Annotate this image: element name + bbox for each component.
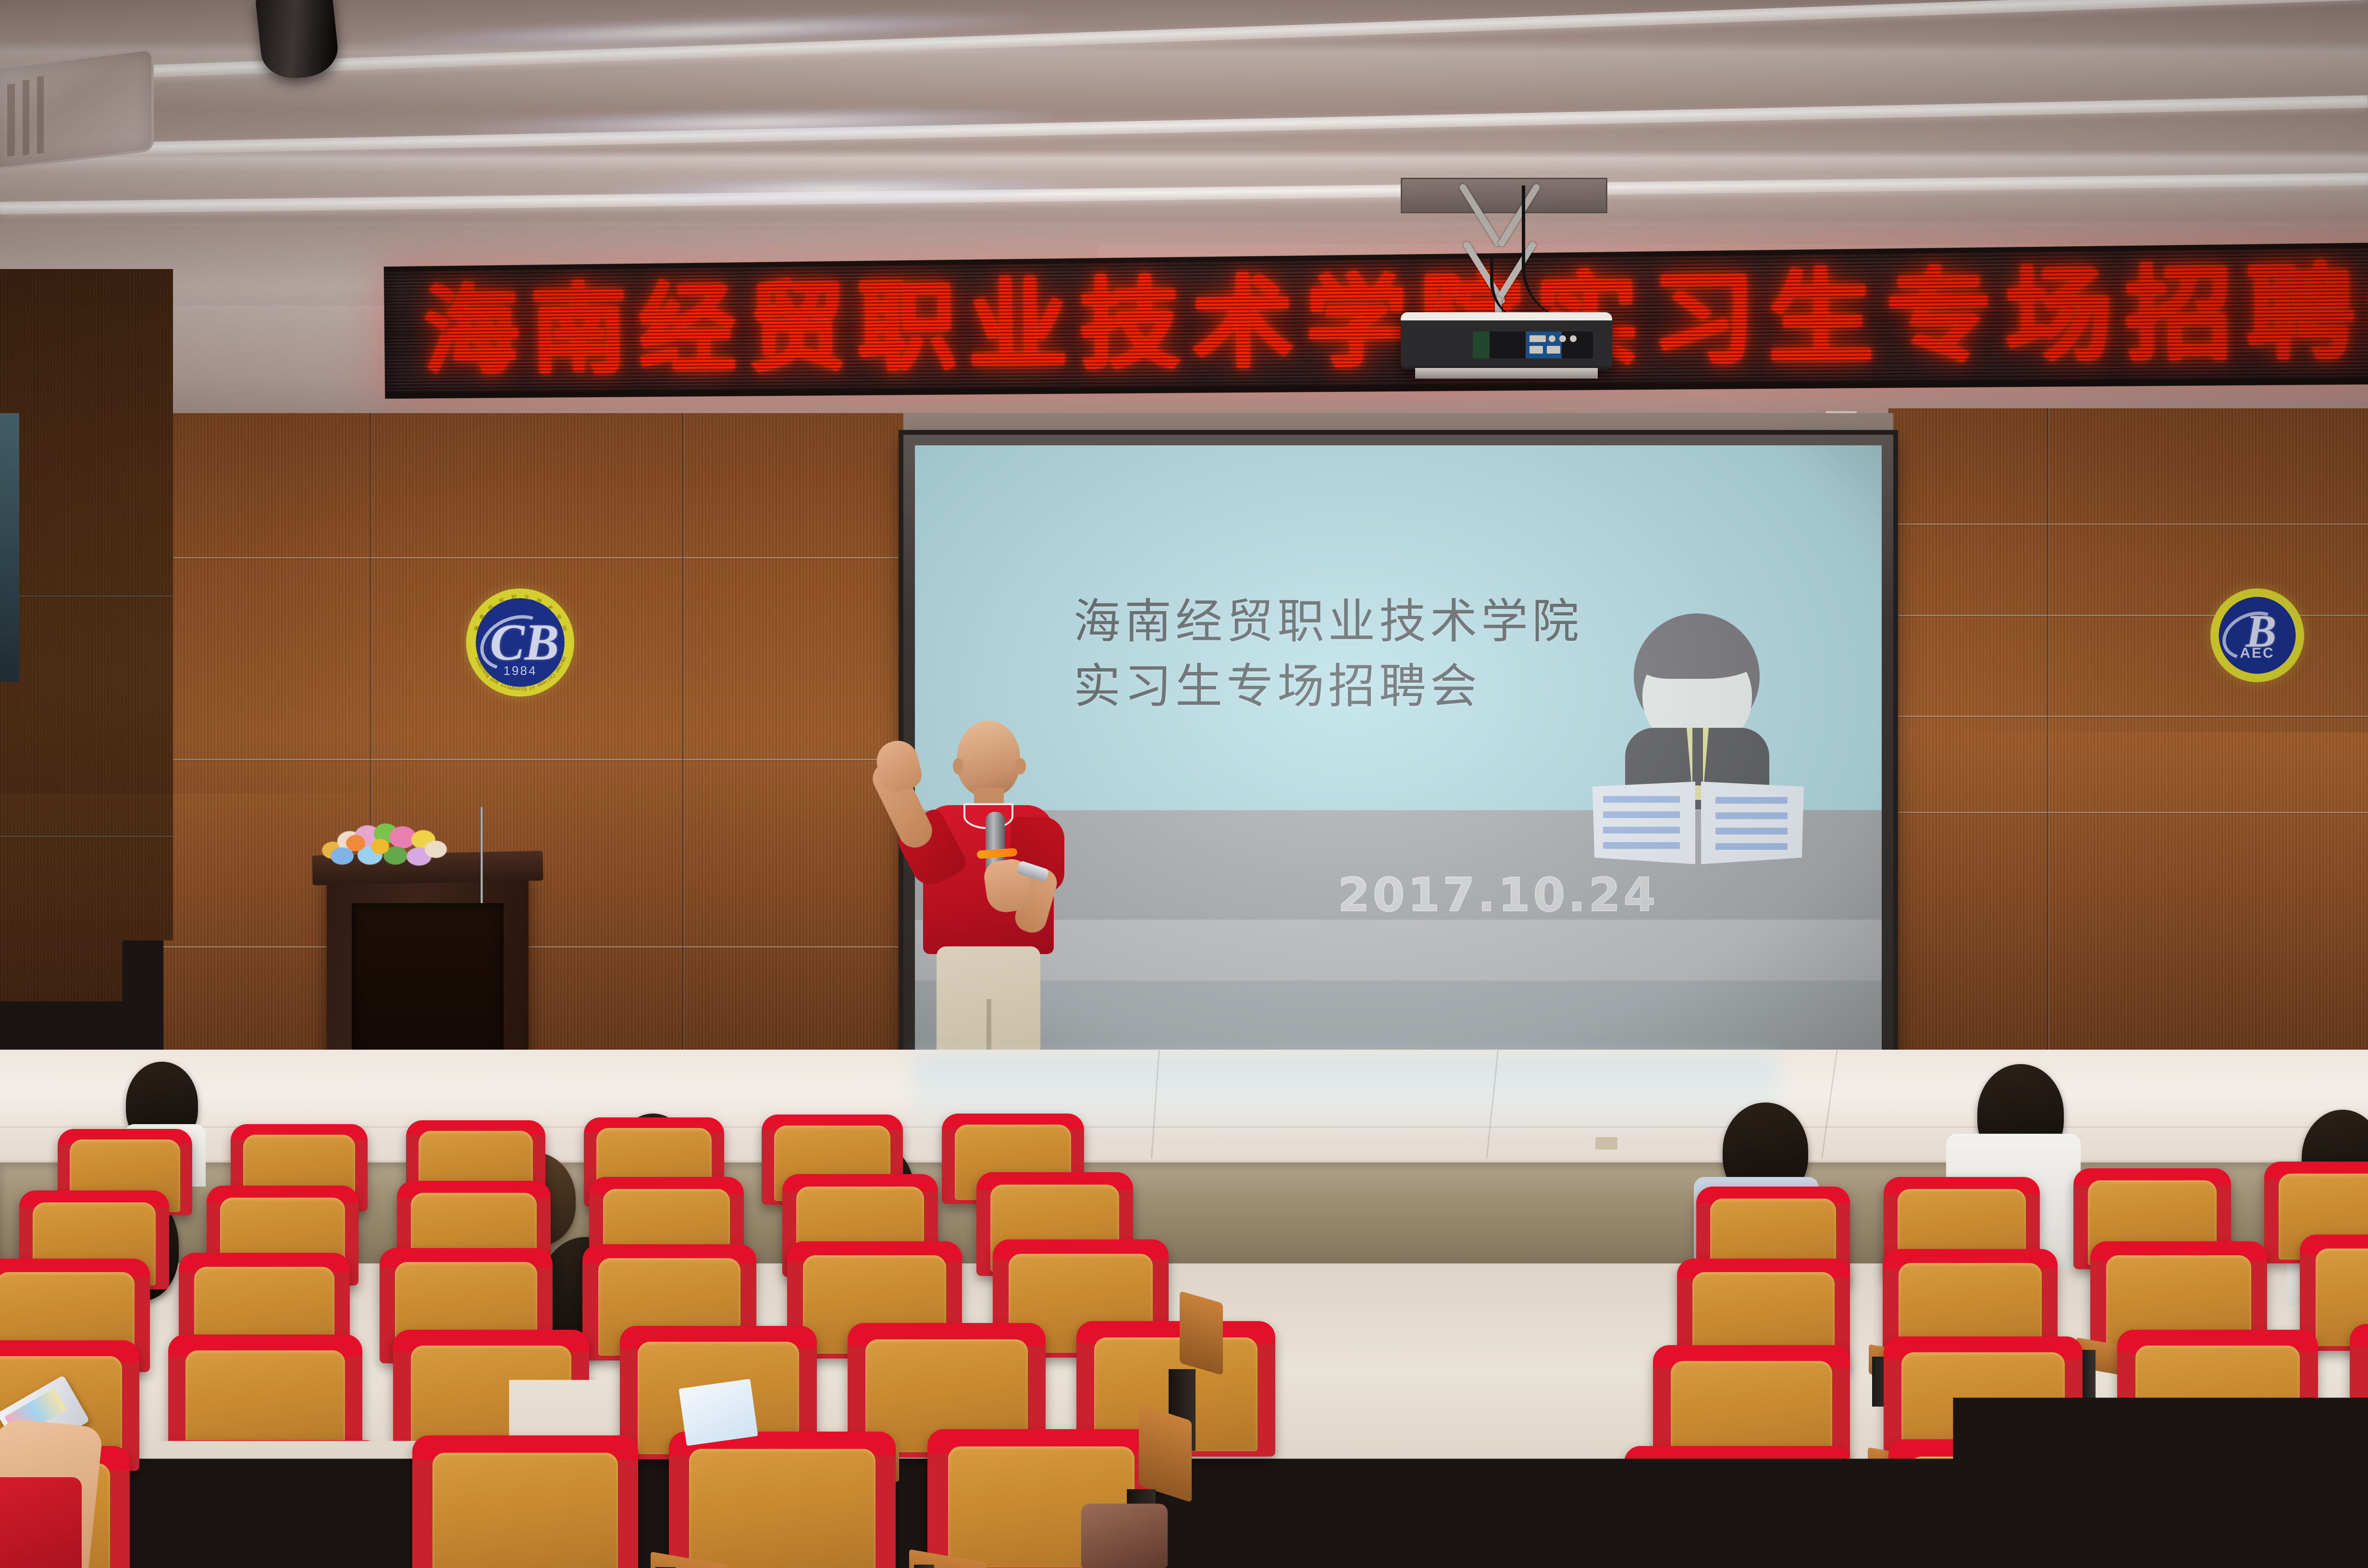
slide-title-line2: 实习生专场招聘会 [1073, 654, 1612, 719]
speaker-ear [953, 758, 963, 774]
led-banner: 海南经贸职业技术学院实习生专场招聘会 [384, 241, 2368, 399]
projector-base-plate [1415, 368, 1598, 379]
college-emblem-right: B AEC [2210, 588, 2304, 682]
speaker-head [957, 721, 1020, 796]
ceiling-stripe [0, 173, 2368, 214]
slide-title-line1: 海南经贸职业技术学院 [1073, 589, 1612, 654]
floor-outlet-plate [1595, 1137, 1617, 1150]
book-page-right [1701, 782, 1804, 864]
book-page-left [1592, 782, 1695, 864]
ceiling-stripe [0, 95, 2368, 157]
projector-body [1401, 312, 1612, 370]
avatar-fringe [1640, 635, 1756, 679]
foreground-shirt [0, 1477, 82, 1568]
college-emblem-left: 海南经贸职业技术学院Hainan College of Economics an… [466, 588, 574, 697]
microphone-stand-wire [481, 807, 483, 903]
speaker-ear [1015, 758, 1026, 774]
slide-date: 2017.10.24 [1338, 868, 1658, 922]
seat[interactable] [159, 1440, 382, 1568]
auditorium-photo-scene: 海南经贸职业技术学院实习生专场招聘会 [0, 0, 2368, 1568]
emblem-year: 1984 [466, 663, 574, 678]
seat[interactable] [669, 1432, 896, 1568]
projector-ports [1473, 331, 1593, 358]
potted-plant [0, 889, 144, 1158]
seat[interactable] [1888, 1439, 2116, 1568]
emblem-subtext: AEC [2210, 645, 2304, 661]
ceiling-stripe [0, 0, 2368, 83]
pamphlet[interactable] [678, 1379, 758, 1446]
stage-wall-right [1888, 408, 2368, 1090]
avatar-tie-knot [1692, 728, 1703, 785]
armrest[interactable] [1180, 1291, 1223, 1375]
stage-wall-left [163, 413, 913, 1086]
slide-avatar-graphic [1596, 613, 1798, 854]
ceiling-projector [1396, 183, 1617, 413]
seat[interactable] [1624, 1446, 1850, 1568]
bag [1081, 1504, 1168, 1568]
seat[interactable] [2156, 1434, 2368, 1568]
led-banner-text: 海南经贸职业技术学院实习生专场招聘会 [384, 260, 2368, 380]
armrest[interactable] [1139, 1404, 1192, 1503]
flower-arrangement [317, 822, 461, 864]
doorway-sliver [0, 413, 19, 682]
slide-title: 海南经贸职业技术学院 实习生专场招聘会 [1073, 589, 1612, 719]
seat[interactable] [412, 1435, 638, 1568]
ac-vent [0, 48, 154, 171]
avatar-book [1592, 782, 1804, 864]
